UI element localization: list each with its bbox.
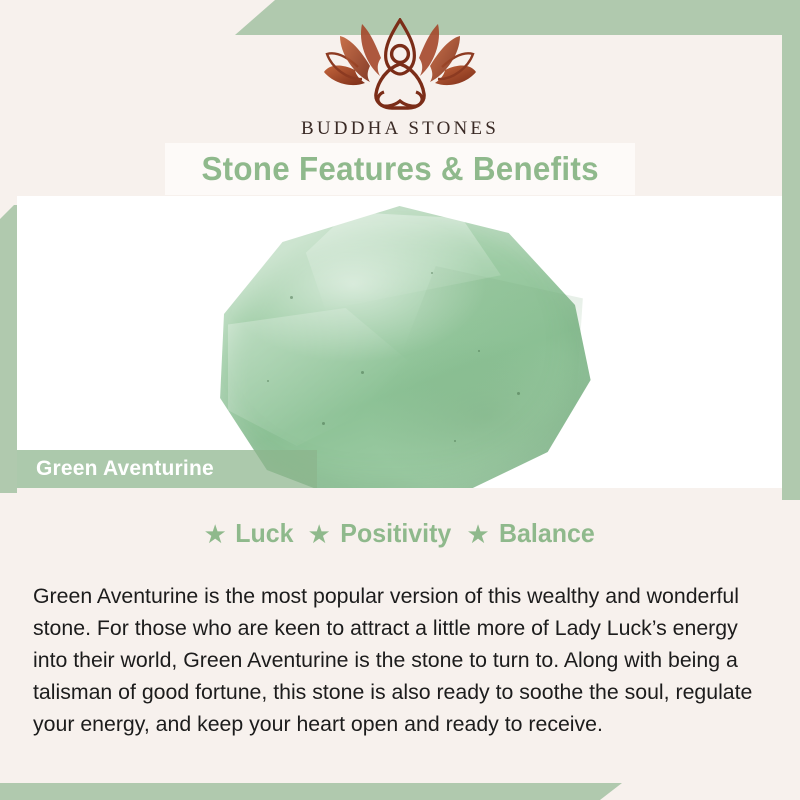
stone-speck xyxy=(478,350,480,352)
stone-name: Green Aventurine xyxy=(17,457,214,481)
stone-description: Green Aventurine is the most popular ver… xyxy=(33,580,766,740)
benefit-item-luck: ★ Luck xyxy=(204,518,295,549)
decor-band-bottom xyxy=(0,783,622,800)
brand-name: BUDDHA STONES xyxy=(301,118,499,140)
stone-speck xyxy=(322,422,325,425)
star-icon: ★ xyxy=(466,521,489,547)
stone-photo: Green Aventurine xyxy=(17,196,782,488)
stone-speck xyxy=(454,440,456,442)
page-title: Stone Features & Benefits xyxy=(201,150,598,188)
lotus-meditation-icon xyxy=(318,18,482,114)
stone-speck xyxy=(361,371,364,374)
brand-logo-block: BUDDHA STONES xyxy=(0,18,800,140)
benefit-label: Balance xyxy=(499,518,595,549)
star-icon: ★ xyxy=(204,521,227,547)
star-icon: ★ xyxy=(308,521,331,547)
benefit-label: Luck xyxy=(235,518,293,549)
benefit-item-balance: ★ Balance xyxy=(466,518,596,549)
stone-speck xyxy=(517,392,520,395)
title-banner: Stone Features & Benefits xyxy=(165,143,635,195)
benefits-row: ★ Luck ★ Positivity ★ Balance xyxy=(0,518,800,549)
stone-speck xyxy=(290,296,293,299)
stone-name-band: Green Aventurine xyxy=(17,450,317,488)
benefit-label: Positivity xyxy=(340,518,451,549)
decor-band-left xyxy=(0,205,17,493)
benefit-item-positivity: ★ Positivity xyxy=(308,518,454,549)
stone-body xyxy=(205,206,595,488)
poster-canvas: BUDDHA STONES Stone Features & Benefits … xyxy=(0,0,800,800)
stone-image xyxy=(205,206,595,488)
